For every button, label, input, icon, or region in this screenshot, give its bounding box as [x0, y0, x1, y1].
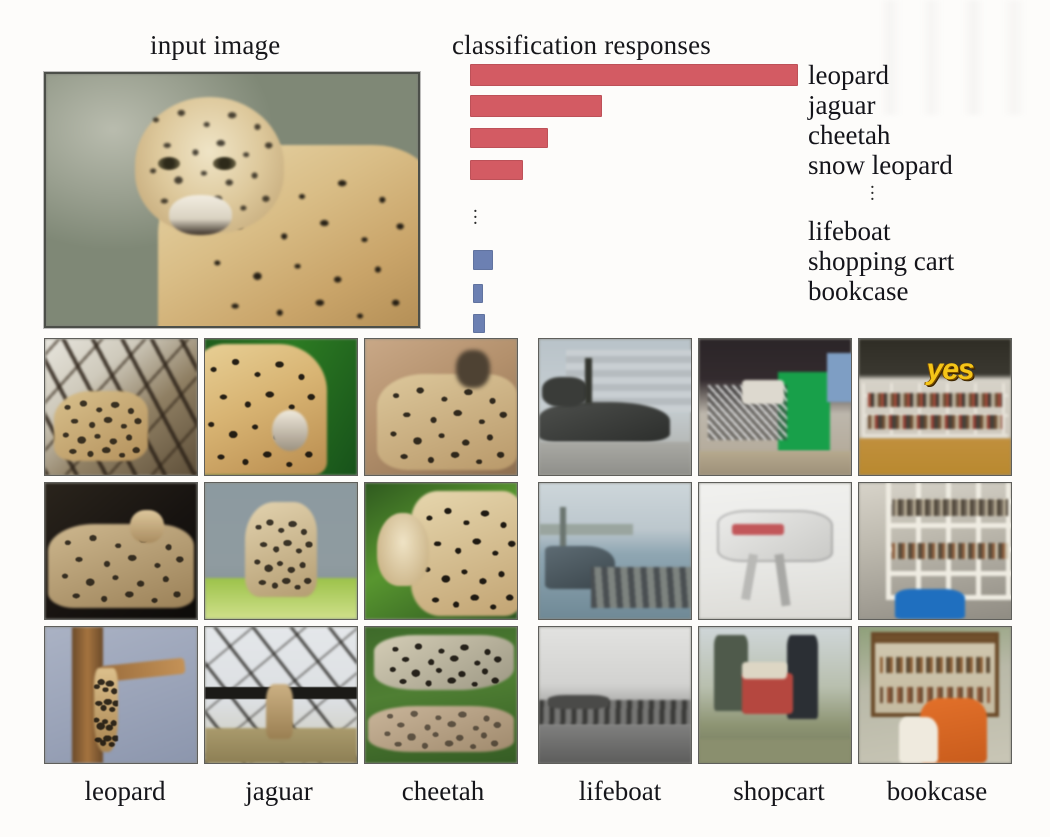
grid-cell-cheetah-1 — [364, 338, 518, 476]
input-photo-eye-left — [158, 157, 180, 170]
bar-row-shopping-cart — [473, 284, 483, 303]
label-ellipsis-dot-3: . — [870, 192, 1048, 198]
class-label-cheetah: cheetah — [808, 120, 1048, 150]
grid-cell-shopcart-2 — [698, 482, 852, 620]
bar-cheetah — [470, 128, 548, 148]
figure-root: input image classification responses . .… — [0, 0, 1050, 837]
caption-jaguar: jaguar — [222, 778, 336, 805]
right-image-grid: yes — [538, 338, 1012, 765]
bar-row-snow-leopard — [470, 160, 523, 180]
grid-cell-bookcase-2 — [858, 482, 1012, 620]
grid-cell-jaguar-2 — [204, 482, 358, 620]
input-image-photo — [44, 72, 420, 328]
bar-lifeboat — [473, 250, 493, 270]
grid-cell-bookcase-1: yes — [858, 338, 1012, 476]
grid-cell-shopcart-1 — [698, 338, 852, 476]
class-label-ellipsis: . . . — [808, 180, 1048, 216]
bar-snow-leopard — [470, 160, 523, 180]
grid-cell-lifeboat-2 — [538, 482, 692, 620]
input-photo-muzzle — [169, 195, 232, 235]
left-image-grid — [44, 338, 518, 765]
grid-cell-leopard-1 — [44, 338, 198, 476]
bar-row-bookcase — [473, 314, 485, 333]
ellipsis-dot-3: . — [473, 216, 478, 222]
class-label-bookcase: bookcase — [808, 276, 1048, 306]
class-label-lifeboat: lifeboat — [808, 216, 1048, 246]
yes-overlay-text: yes — [927, 353, 974, 387]
bar-row-lifeboat — [473, 250, 493, 270]
caption-bookcase: bookcase — [862, 778, 1012, 805]
caption-leopard: leopard — [60, 778, 190, 805]
grid-cell-shopcart-3 — [698, 626, 852, 764]
bar-chart-ellipsis: . . . — [473, 204, 478, 222]
bar-jaguar — [470, 95, 602, 117]
bar-row-cheetah — [470, 128, 548, 148]
grid-cell-jaguar-3 — [204, 626, 358, 764]
class-label-leopard: leopard — [808, 60, 1048, 90]
input-photo-eye-right — [213, 157, 235, 170]
classification-bar-chart: . . . — [470, 62, 810, 320]
bar-shopping-cart — [473, 284, 483, 303]
classification-responses-title: classification responses — [452, 32, 711, 59]
bar-row-jaguar — [470, 95, 602, 117]
bar-leopard — [470, 64, 798, 86]
class-label-shopping-cart: shopping cart — [808, 246, 1048, 276]
grid-cell-cheetah-3 — [364, 626, 518, 764]
class-label-list: leopard jaguar cheetah snow leopard . . … — [808, 60, 1048, 306]
grid-cell-cheetah-2 — [364, 482, 518, 620]
grid-cell-bookcase-3 — [858, 626, 1012, 764]
grid-cell-lifeboat-1 — [538, 338, 692, 476]
caption-lifeboat: lifeboat — [556, 778, 684, 805]
class-label-snow-leopard: snow leopard — [808, 150, 1048, 180]
caption-shopcart: shopcart — [706, 778, 852, 805]
bar-bookcase — [473, 314, 485, 333]
caption-cheetah: cheetah — [378, 778, 508, 805]
grid-cell-leopard-3 — [44, 626, 198, 764]
grid-cell-leopard-2 — [44, 482, 198, 620]
class-label-jaguar: jaguar — [808, 90, 1048, 120]
bar-row-leopard — [470, 64, 798, 86]
input-image-title: input image — [150, 32, 280, 59]
grid-cell-lifeboat-3 — [538, 626, 692, 764]
grid-cell-jaguar-1 — [204, 338, 358, 476]
